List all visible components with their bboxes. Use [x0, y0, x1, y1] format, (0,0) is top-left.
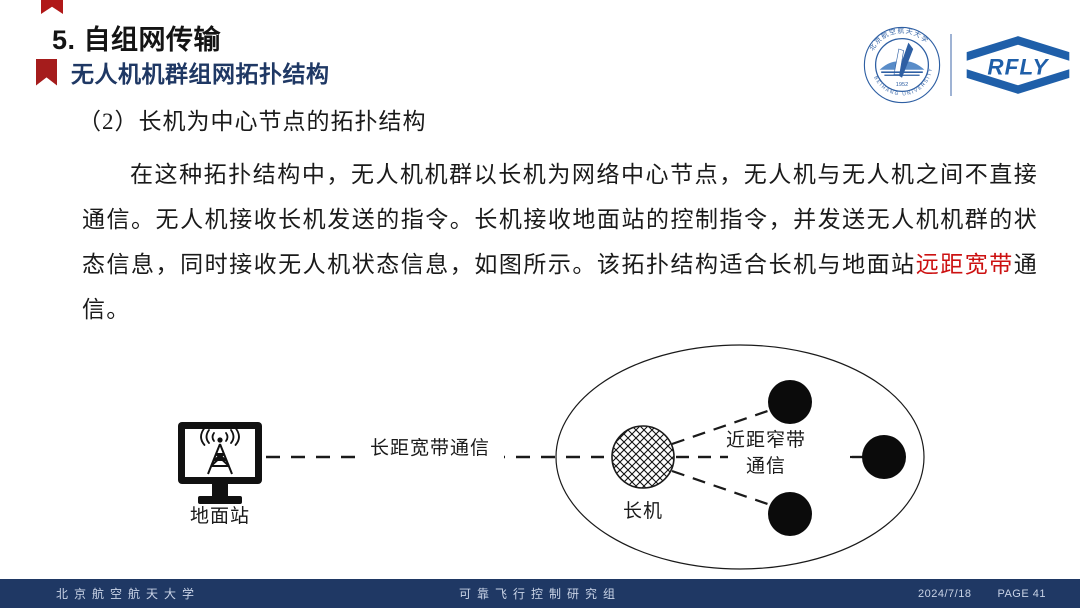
ground-station-monitor-icon [178, 422, 262, 504]
uav-node-icon [862, 435, 906, 479]
svg-text:RFLY: RFLY [987, 55, 1049, 80]
uav-node-icon [768, 380, 812, 424]
ground-station-label: 地面站 [190, 505, 250, 527]
content-heading: （2）长机为中心节点的拓扑结构 [78, 106, 1080, 138]
footer-university: 北京航空航天大学 [56, 585, 200, 602]
logo-block: 北京航空航天大学 BEIHANG UNIVERSITY 1952 RFLY [862, 24, 1072, 106]
hatched-circle-icon [612, 426, 674, 488]
svg-text:1952: 1952 [896, 82, 908, 88]
rfly-logo-icon: RFLY [964, 34, 1072, 96]
topology-diagram: 地面站 长距宽带通信 长机 近距窄带 通信 [0, 322, 1080, 572]
footer-date: 2024/7/18 [918, 588, 971, 600]
content-paragraph: 在这种拓扑结构中，无人机机群以长机为网络中心节点，无人机与无人机之间不直接通信。… [82, 152, 1038, 332]
page-title-text: 5. 自组网传输 [52, 18, 221, 57]
long-range-link-label: 长距宽带通信 [370, 437, 490, 459]
paragraph-part-1: 在这种拓扑结构中，无人机机群以长机为网络中心节点，无人机与无人机之间不直接通信。… [82, 162, 1038, 277]
short-range-link-label-line1: 近距窄带 [726, 429, 806, 451]
short-range-link-label-line2: 通信 [746, 455, 786, 477]
paragraph-highlight: 远距宽带 [916, 252, 1014, 277]
buaa-seal-icon: 北京航空航天大学 BEIHANG UNIVERSITY 1952 [862, 25, 942, 105]
slide-root: 5. 自组网传输 无人机机群组网拓扑结构 北京航空航天大学 BEIHANG UN… [0, 0, 1080, 608]
bookmark-icon-top [41, 0, 63, 14]
bookmark-icon [36, 59, 57, 86]
footer-meta: 2024/7/18 PAGE 41 [918, 588, 1046, 600]
footer-group: 可靠飞行控制研究组 [459, 585, 621, 602]
logo-divider [950, 34, 952, 96]
footer-bar: 北京航空航天大学 可靠飞行控制研究组 2024/7/18 PAGE 41 [0, 579, 1080, 608]
leader-node-label: 长机 [623, 500, 663, 522]
footer-page: PAGE 41 [997, 588, 1046, 600]
uav-node-icon [768, 492, 812, 536]
page-subtitle-text: 无人机机群组网拓扑结构 [71, 55, 330, 89]
page-subtitle: 无人机机群组网拓扑结构 [36, 55, 330, 89]
body-content: （2）长机为中心节点的拓扑结构 在这种拓扑结构中，无人机机群以长机为网络中心节点… [0, 106, 1080, 332]
page-title: 5. 自组网传输 [52, 18, 221, 57]
